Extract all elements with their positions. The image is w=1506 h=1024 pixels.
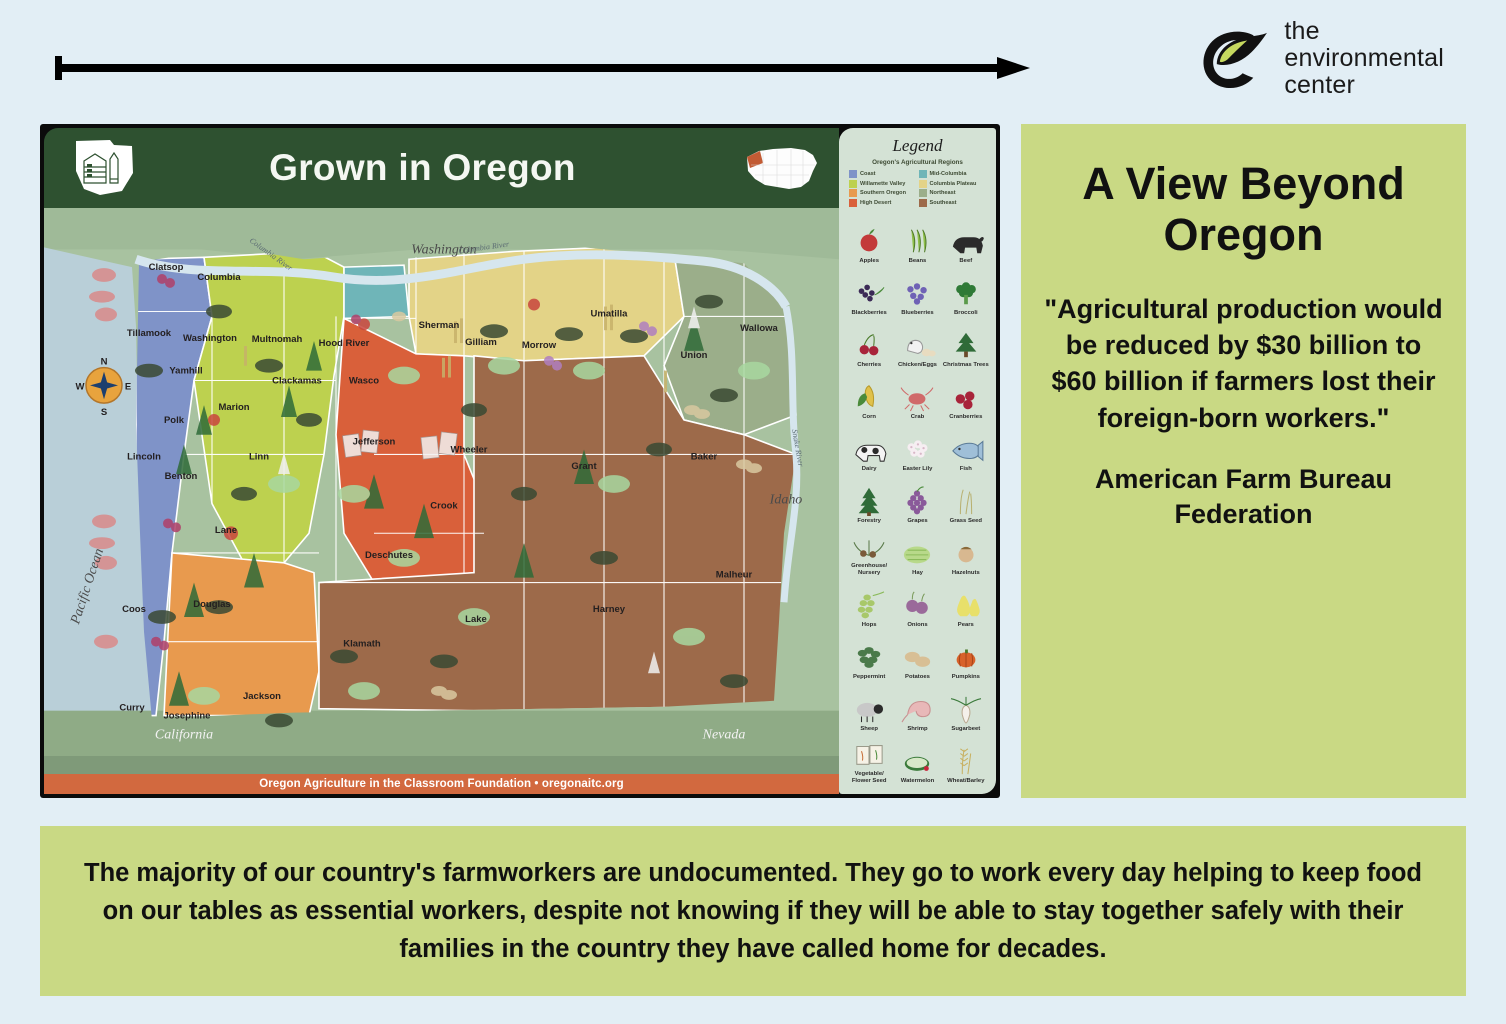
watermelon-icon bbox=[897, 745, 937, 776]
easter-lily-icon bbox=[897, 433, 937, 464]
legend-commodity-label: Sheep bbox=[860, 726, 878, 733]
hay-bale-icon bbox=[897, 538, 937, 568]
chicken-eggs-icon bbox=[897, 330, 937, 360]
hazelnut-icon bbox=[946, 538, 986, 568]
legend-region: Southeast bbox=[919, 199, 987, 207]
legend-regions: CoastMid-ColumbiaWillamette ValleyColumb… bbox=[849, 170, 986, 207]
grass-seed-icon bbox=[946, 485, 986, 516]
pumpkin-icon bbox=[946, 641, 986, 672]
legend-commodity-label: Grapes bbox=[907, 518, 927, 525]
legend-commodity: Dairy bbox=[845, 422, 893, 473]
fish-icon bbox=[946, 433, 986, 464]
legend-commodity: Beef bbox=[942, 214, 990, 265]
legend-commodity-label: Vegetable/ Flower Seed bbox=[845, 771, 893, 784]
hazelnut-icon bbox=[946, 537, 986, 568]
pears-icon bbox=[946, 589, 986, 620]
nursery-plant-icon bbox=[849, 530, 889, 561]
legend-commodity: Greenhouse/ Nursery bbox=[845, 526, 893, 577]
legend-region-swatch bbox=[919, 189, 927, 197]
svg-text:E: E bbox=[125, 380, 131, 391]
right-arrow-rule bbox=[55, 50, 1030, 86]
legend-commodity: Potatoes bbox=[893, 630, 941, 681]
onions-icon bbox=[897, 590, 937, 620]
christmas-tree-icon bbox=[946, 330, 986, 360]
county-label: Yamhill bbox=[169, 365, 202, 376]
legend-commodity-label: Onions bbox=[907, 622, 927, 629]
legend-commodity: Hazelnuts bbox=[942, 526, 990, 577]
county-label: Malheur bbox=[716, 569, 753, 580]
legend-commodity-label: Corn bbox=[862, 414, 876, 421]
county-label: Sherman bbox=[419, 319, 460, 330]
sugarbeet-icon bbox=[946, 693, 986, 724]
corn-icon bbox=[849, 382, 889, 412]
grapes-icon bbox=[897, 486, 937, 516]
leaf-e-logo bbox=[1194, 20, 1270, 96]
peppermint-icon bbox=[849, 642, 889, 672]
map-footer-green-bar bbox=[44, 756, 839, 776]
legend-region-swatch bbox=[849, 180, 857, 188]
conifer-tree-icon bbox=[849, 485, 889, 516]
broccoli-icon bbox=[946, 277, 986, 308]
map-footer: Oregon Agriculture in the Classroom Foun… bbox=[44, 774, 839, 794]
legend-commodity: Pumpkins bbox=[942, 630, 990, 681]
legend-commodity-label: Cherries bbox=[857, 362, 881, 369]
county-label: Union bbox=[681, 349, 708, 360]
county-label: Klamath bbox=[343, 638, 381, 649]
county-label: Lane bbox=[215, 524, 237, 535]
county-label: Jackson bbox=[243, 690, 281, 701]
sheep-icon bbox=[849, 694, 889, 724]
crab-icon bbox=[897, 382, 937, 412]
legend-region: Coast bbox=[849, 170, 917, 178]
green-beans-icon bbox=[897, 226, 937, 256]
legend-commodity-label: Cranberries bbox=[949, 414, 982, 421]
legend-commodity-label: Forestry bbox=[857, 518, 881, 525]
cranberries-icon bbox=[946, 382, 986, 412]
county-label: Grant bbox=[571, 460, 597, 471]
county-label: Clatsop bbox=[149, 261, 184, 272]
legend-commodity: Onions bbox=[893, 578, 941, 629]
legend-commodity: Cherries bbox=[845, 318, 893, 369]
green-beans-icon bbox=[897, 225, 937, 256]
legend-region: Southern Oregon bbox=[849, 189, 917, 197]
watermelon-icon bbox=[897, 746, 937, 776]
svg-text:W: W bbox=[76, 380, 85, 391]
pears-icon bbox=[946, 590, 986, 620]
legend-commodity: Peppermint bbox=[845, 630, 893, 681]
county-label: Polk bbox=[164, 414, 185, 425]
legend-commodity: Easter Lily bbox=[893, 422, 941, 473]
potatoes-icon bbox=[897, 642, 937, 672]
county-label: Benton bbox=[165, 470, 198, 481]
legend-commodity-label: Peppermint bbox=[853, 674, 885, 681]
oregon-barn-pencil-logo bbox=[70, 137, 136, 199]
sugarbeet-icon bbox=[946, 694, 986, 724]
legend-commodity: Pears bbox=[942, 578, 990, 629]
county-label: Josephine bbox=[164, 710, 211, 721]
legend-region: High Desert bbox=[849, 199, 917, 207]
christmas-tree-icon bbox=[946, 329, 986, 360]
legend-commodity: Vegetable/ Flower Seed bbox=[845, 734, 893, 785]
county-label: Lake bbox=[465, 613, 487, 624]
legend-region: Northeast bbox=[919, 189, 987, 197]
legend-region-swatch bbox=[919, 180, 927, 188]
blackberries-icon bbox=[849, 277, 889, 308]
logo-line-center: center bbox=[1284, 72, 1444, 99]
svg-text:N: N bbox=[101, 356, 108, 367]
legend-commodity-label: Hazelnuts bbox=[952, 570, 980, 577]
cherries-icon bbox=[849, 330, 889, 360]
county-label: Hood River bbox=[319, 337, 370, 348]
grass-seed-icon bbox=[946, 486, 986, 516]
legend-commodity: Apples bbox=[845, 214, 893, 265]
legend-region-label: Northeast bbox=[930, 190, 956, 196]
legend-region: Columbia Plateau bbox=[919, 180, 987, 188]
seed-packets-icon bbox=[849, 739, 889, 769]
grown-in-oregon-map-card: Grown in Oregon bbox=[40, 124, 1000, 798]
shrimp-icon bbox=[897, 694, 937, 724]
legend-commodity-label: Chicken/Eggs bbox=[898, 362, 937, 369]
legend-commodity-label: Easter Lily bbox=[903, 466, 933, 473]
fish-icon bbox=[946, 434, 986, 464]
legend-subtitle: Oregon's Agricultural Regions bbox=[843, 159, 992, 166]
legend-commodity-label: Hops bbox=[862, 622, 877, 629]
map-header: Grown in Oregon bbox=[44, 128, 839, 208]
legend-commodity: Hay bbox=[893, 526, 941, 577]
legend-title: Legend bbox=[843, 136, 992, 156]
bottom-banner-text: The majority of our country's farmworker… bbox=[74, 854, 1432, 969]
legend-commodity-label: Crab bbox=[911, 414, 924, 421]
legend-commodity: Watermelon bbox=[893, 734, 941, 785]
county-label: Tillamook bbox=[127, 327, 172, 338]
quote-text: "Agricultural production would be reduce… bbox=[1043, 291, 1444, 437]
county-label: Deschutes bbox=[365, 549, 413, 560]
county-label: Multnomah bbox=[252, 333, 303, 344]
legend-commodity-label: Beans bbox=[909, 258, 927, 265]
legend-commodity: Blackberries bbox=[845, 266, 893, 317]
legend-commodity-label: Apples bbox=[859, 258, 879, 265]
legend-region-swatch bbox=[919, 199, 927, 207]
legend-commodity: Shrimp bbox=[893, 682, 941, 733]
legend-commodity-label: Potatoes bbox=[905, 674, 930, 681]
legend-commodity-label: Pumpkins bbox=[952, 674, 980, 681]
sheep-icon bbox=[849, 693, 889, 724]
county-label: Umatilla bbox=[591, 307, 629, 318]
legend-commodity-label: Sugarbeet bbox=[951, 726, 980, 733]
legend-commodity-label: Fish bbox=[960, 466, 972, 473]
legend-commodity: Christmas Trees bbox=[942, 318, 990, 369]
legend-commodity: Sugarbeet bbox=[942, 682, 990, 733]
cherries-icon bbox=[849, 329, 889, 360]
legend-region-label: Mid-Columbia bbox=[930, 171, 967, 177]
county-label: Washington bbox=[183, 332, 237, 343]
legend-region-swatch bbox=[849, 189, 857, 197]
legend-commodity-label: Blueberries bbox=[901, 310, 933, 317]
legend-commodity-label: Hay bbox=[912, 570, 923, 577]
legend-commodities: ApplesBeansBeefBlackberriesBlueberriesBr… bbox=[845, 214, 990, 785]
legend-commodity: Fish bbox=[942, 422, 990, 473]
legend-region-label: Southeast bbox=[930, 200, 957, 206]
svg-text:S: S bbox=[101, 406, 107, 417]
map-title: Grown in Oregon bbox=[136, 147, 709, 189]
blackberries-icon bbox=[849, 278, 889, 308]
legend-commodity-label: Grass Seed bbox=[950, 518, 982, 525]
hops-icon bbox=[849, 590, 889, 620]
county-label: Wasco bbox=[349, 375, 379, 386]
county-label: Harney bbox=[593, 603, 626, 614]
hay-bale-icon bbox=[897, 537, 937, 568]
county-label: Marion bbox=[218, 401, 249, 412]
grapes-icon bbox=[897, 485, 937, 516]
geo-label-idaho: Idaho bbox=[769, 493, 803, 508]
county-label: Jefferson bbox=[353, 436, 396, 447]
legend-region-label: Coast bbox=[860, 171, 876, 177]
logo-wordmark: the environmental center bbox=[1284, 18, 1444, 98]
quote-panel: A View Beyond Oregon "Agricultural produ… bbox=[1021, 124, 1466, 798]
apple-icon bbox=[849, 225, 889, 256]
blueberries-icon bbox=[897, 277, 937, 308]
apple-icon bbox=[849, 226, 889, 256]
corn-icon bbox=[849, 381, 889, 412]
chicken-eggs-icon bbox=[897, 329, 937, 360]
county-label: Douglas bbox=[193, 598, 230, 609]
legend-commodity: Forestry bbox=[845, 474, 893, 525]
legend-region-label: Southern Oregon bbox=[860, 190, 906, 196]
bottom-banner: The majority of our country's farmworker… bbox=[40, 826, 1466, 996]
county-label: Morrow bbox=[522, 339, 557, 350]
legend-commodity-label: Pears bbox=[958, 622, 974, 629]
legend-commodity-label: Blackberries bbox=[851, 310, 886, 317]
legend-region: Mid-Columbia bbox=[919, 170, 987, 178]
county-label: Clackamas bbox=[272, 375, 322, 386]
geo-label-california: California bbox=[155, 727, 213, 742]
quote-attribution: American Farm Bureau Federation bbox=[1043, 462, 1444, 532]
beef-cow-icon bbox=[946, 226, 986, 256]
broccoli-icon bbox=[946, 278, 986, 308]
legend-region-label: Willamette Valley bbox=[860, 181, 905, 187]
county-label: Columbia bbox=[197, 271, 241, 282]
county-label: Curry bbox=[119, 702, 145, 713]
legend-commodity: Beans bbox=[893, 214, 941, 265]
wheat-icon bbox=[946, 745, 986, 776]
county-label: Linn bbox=[249, 450, 269, 461]
nursery-plant-icon bbox=[849, 531, 889, 561]
oregon-county-map: N S E W Washington Idaho Pacific Ocean C… bbox=[44, 208, 839, 756]
wheat-icon bbox=[946, 746, 986, 776]
dairy-cow-icon bbox=[849, 434, 889, 464]
county-label: Coos bbox=[122, 603, 146, 614]
legend-region-swatch bbox=[919, 170, 927, 178]
us-map-oregon-highlighted bbox=[739, 141, 821, 195]
county-label: Wheeler bbox=[451, 443, 488, 454]
legend-commodity: Sheep bbox=[845, 682, 893, 733]
cranberries-icon bbox=[946, 381, 986, 412]
geo-label-nevada: Nevada bbox=[702, 727, 746, 742]
legend-commodity: Crab bbox=[893, 370, 941, 421]
pumpkin-icon bbox=[946, 642, 986, 672]
legend-commodity: Wheat/Barley bbox=[942, 734, 990, 785]
beef-cow-icon bbox=[946, 225, 986, 256]
peppermint-icon bbox=[849, 641, 889, 672]
legend-region-label: High Desert bbox=[860, 200, 891, 206]
crab-icon bbox=[897, 381, 937, 412]
legend-commodity: Grapes bbox=[893, 474, 941, 525]
legend-commodity: Chicken/Eggs bbox=[893, 318, 941, 369]
county-label: Crook bbox=[430, 500, 458, 511]
legend-commodity: Broccoli bbox=[942, 266, 990, 317]
county-label: Lincoln bbox=[127, 450, 161, 461]
legend-commodity: Grass Seed bbox=[942, 474, 990, 525]
county-label: Gilliam bbox=[465, 336, 497, 347]
blueberries-icon bbox=[897, 278, 937, 308]
legend-commodity-label: Christmas Trees bbox=[943, 362, 989, 369]
legend-region: Willamette Valley bbox=[849, 180, 917, 188]
shrimp-icon bbox=[897, 693, 937, 724]
legend-commodity-label: Beef bbox=[959, 258, 972, 265]
legend-commodity: Hops bbox=[845, 578, 893, 629]
legend-commodity-label: Shrimp bbox=[907, 726, 927, 733]
logo-line-environmental: environmental bbox=[1284, 45, 1444, 72]
legend-region-swatch bbox=[849, 170, 857, 178]
dairy-cow-icon bbox=[849, 433, 889, 464]
easter-lily-icon bbox=[897, 434, 937, 464]
hops-icon bbox=[849, 589, 889, 620]
legend-commodity-label: Watermelon bbox=[901, 778, 935, 785]
quote-heading: A View Beyond Oregon bbox=[1043, 158, 1444, 261]
legend-commodity-label: Broccoli bbox=[954, 310, 978, 317]
map-legend: Legend Oregon's Agricultural Regions Coa… bbox=[839, 128, 996, 794]
seed-packets-icon bbox=[849, 738, 889, 769]
county-label: Wallowa bbox=[740, 322, 778, 333]
legend-commodity: Corn bbox=[845, 370, 893, 421]
conifer-tree-icon bbox=[849, 486, 889, 516]
county-label: Baker bbox=[691, 450, 718, 461]
legend-commodity-label: Dairy bbox=[862, 466, 877, 473]
brand-logo: the environmental center bbox=[1194, 18, 1444, 98]
legend-commodity-label: Greenhouse/ Nursery bbox=[845, 563, 893, 576]
potatoes-icon bbox=[897, 641, 937, 672]
legend-commodity: Blueberries bbox=[893, 266, 941, 317]
logo-line-the: the bbox=[1284, 18, 1444, 45]
legend-region-label: Columbia Plateau bbox=[930, 181, 977, 187]
legend-commodity-label: Wheat/Barley bbox=[947, 778, 984, 785]
onions-icon bbox=[897, 589, 937, 620]
legend-region-swatch bbox=[849, 199, 857, 207]
legend-commodity: Cranberries bbox=[942, 370, 990, 421]
